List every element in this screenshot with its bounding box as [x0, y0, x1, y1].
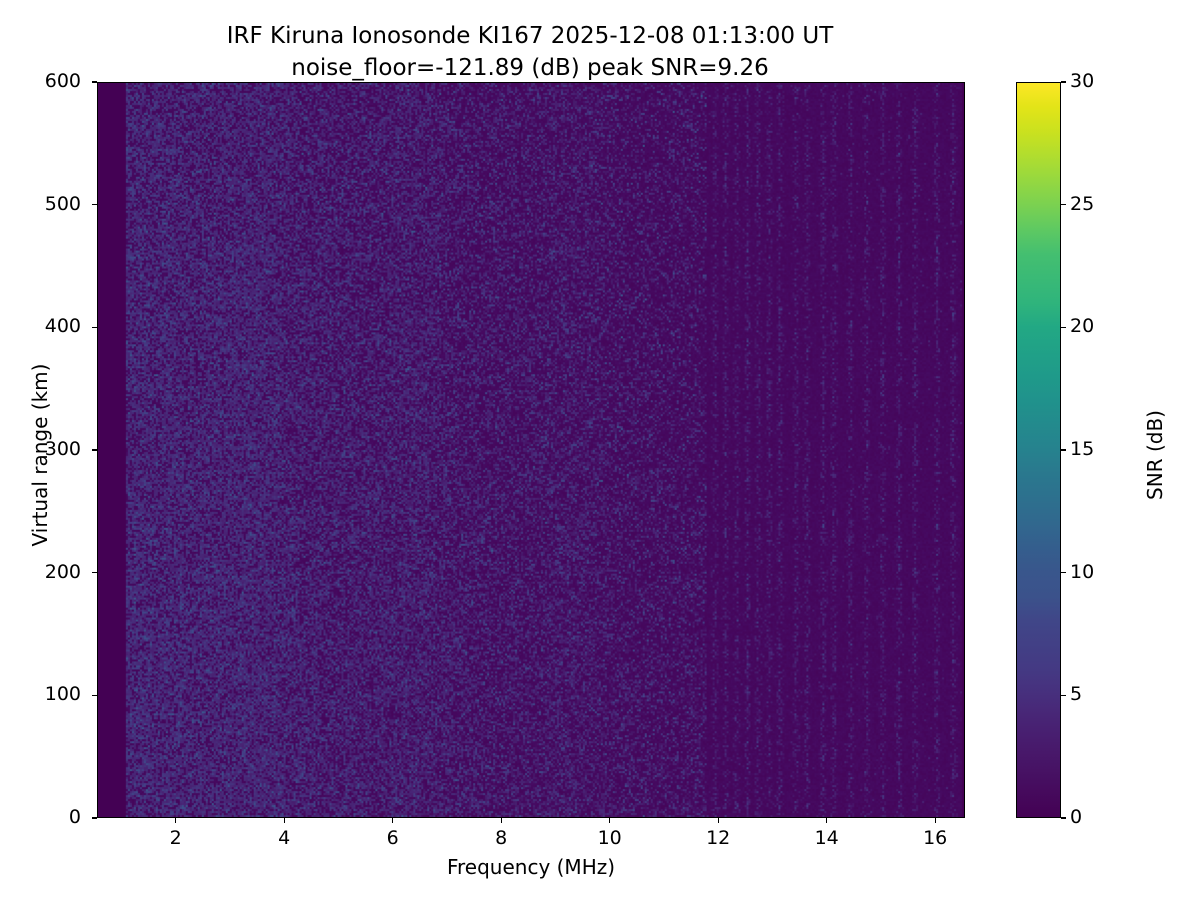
- colorbar-tick-label: 25: [1070, 193, 1130, 215]
- y-tick-label: 600: [21, 70, 81, 92]
- y-tick: [92, 817, 97, 818]
- x-tick: [826, 818, 827, 823]
- x-tick: [175, 818, 176, 823]
- figure-title: IRF Kiruna Ionosonde KI167 2025-12-08 01…: [0, 20, 1060, 84]
- y-tick: [92, 327, 97, 328]
- x-tick-label: 8: [466, 827, 536, 849]
- x-tick-label: 10: [575, 827, 645, 849]
- y-tick-label: 100: [21, 683, 81, 705]
- snr-heatmap: [98, 83, 964, 817]
- ionogram-axes[interactable]: [97, 82, 965, 818]
- x-tick-label: 2: [141, 827, 211, 849]
- x-tick: [935, 818, 936, 823]
- colorbar-tick: [1061, 449, 1066, 450]
- colorbar-tick: [1061, 572, 1066, 573]
- colorbar-tick-label: 10: [1070, 561, 1130, 583]
- colorbar[interactable]: [1016, 82, 1061, 818]
- y-tick: [92, 81, 97, 82]
- colorbar-tick-label: 5: [1070, 683, 1130, 705]
- colorbar-label: SNR (dB): [1143, 325, 1167, 585]
- x-axis-label: Frequency (MHz): [97, 855, 965, 879]
- y-tick: [92, 572, 97, 573]
- colorbar-tick: [1061, 817, 1066, 818]
- colorbar-tick-label: 15: [1070, 438, 1130, 460]
- colorbar-tick: [1061, 695, 1066, 696]
- x-tick: [392, 818, 393, 823]
- y-tick: [92, 449, 97, 450]
- y-tick-label: 0: [21, 806, 81, 828]
- colorbar-tick-label: 0: [1070, 806, 1130, 828]
- colorbar-tick: [1061, 81, 1066, 82]
- x-tick-label: 12: [683, 827, 753, 849]
- x-tick: [501, 818, 502, 823]
- x-tick: [284, 818, 285, 823]
- x-tick-label: 14: [792, 827, 862, 849]
- colorbar-tick-label: 20: [1070, 315, 1130, 337]
- y-tick: [92, 695, 97, 696]
- x-tick-label: 4: [249, 827, 319, 849]
- colorbar-tick: [1061, 204, 1066, 205]
- colorbar-tick-label: 30: [1070, 70, 1130, 92]
- x-tick: [609, 818, 610, 823]
- colorbar-tick: [1061, 327, 1066, 328]
- x-tick: [718, 818, 719, 823]
- y-axis-label: Virtual range (km): [28, 325, 52, 585]
- x-tick-label: 16: [900, 827, 970, 849]
- ionogram-figure: IRF Kiruna Ionosonde KI167 2025-12-08 01…: [0, 0, 1200, 900]
- x-tick-label: 6: [358, 827, 428, 849]
- y-tick: [92, 204, 97, 205]
- y-tick-label: 500: [21, 193, 81, 215]
